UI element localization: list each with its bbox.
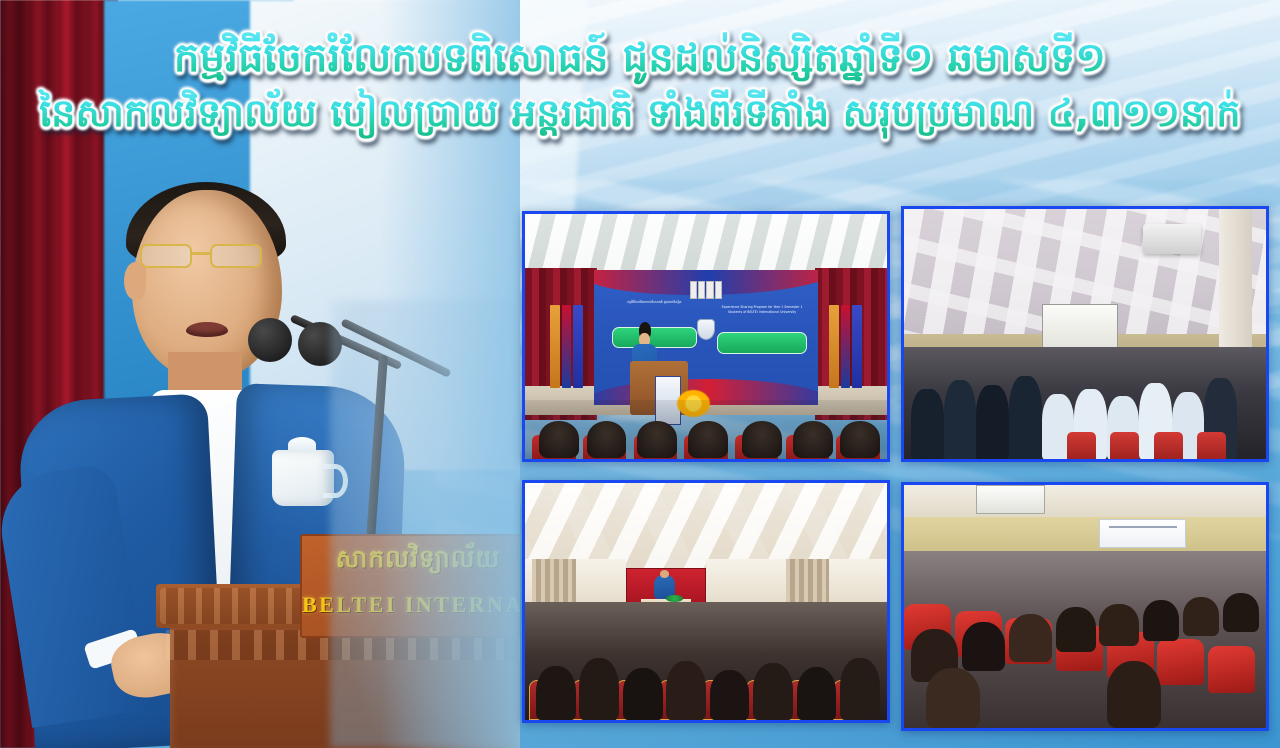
projector-icon <box>1143 224 1201 254</box>
speaker-edge-fade <box>380 0 520 748</box>
led-backdrop-screen: កម្មវិធីចែករំលែកបទពិសោធន៍ ជូនដល់និស្សិត … <box>594 270 818 405</box>
tea-mug-icon <box>272 450 334 506</box>
photo-auditorium-standing[interactable] <box>901 206 1269 462</box>
photo-ballroom-audience[interactable] <box>522 480 890 723</box>
screen-green-box-right <box>717 332 807 354</box>
screen-heading-khmer: កម្មវិធីចែករំលែកបទពិសោធន៍ ជូនដល់និស្សិត <box>612 300 697 305</box>
photo-stage-led-screen[interactable]: កម្មវិធីចែករំលែកបទពិសោធន៍ ជូនដល់និស្សិត … <box>522 211 890 462</box>
national-flags-right <box>829 305 862 388</box>
photo-content <box>525 483 887 720</box>
speaker-photo: សាកលវិទ្យាល័យ BELTEI INTERNAT <box>0 0 520 748</box>
screen-heading-english: Experience Sharing Program for Year 1 Se… <box>717 305 807 315</box>
poster-canvas: Civi relation Interna <box>0 0 1280 748</box>
standing-crowd <box>904 347 1266 460</box>
university-emblem-icon <box>697 319 715 341</box>
projection-screen <box>1042 304 1118 352</box>
seated-audience <box>525 602 887 721</box>
lecture-projection-screen <box>976 485 1045 514</box>
eyeglasses-icon <box>136 244 282 270</box>
photo-content <box>904 485 1266 728</box>
student-audience <box>904 551 1266 728</box>
event-banner <box>1099 519 1186 548</box>
screen-flag-row <box>690 281 721 299</box>
national-flags-left <box>550 305 583 388</box>
photo-content: កម្មវិធីចែករំលែកបទពិសោធន៍ ជូនដល់និស្សិត … <box>525 214 887 459</box>
photo-content <box>904 209 1266 459</box>
photo-students-seated[interactable] <box>901 482 1269 731</box>
front-row-audience <box>525 400 887 459</box>
speaker-mouth <box>186 322 228 337</box>
